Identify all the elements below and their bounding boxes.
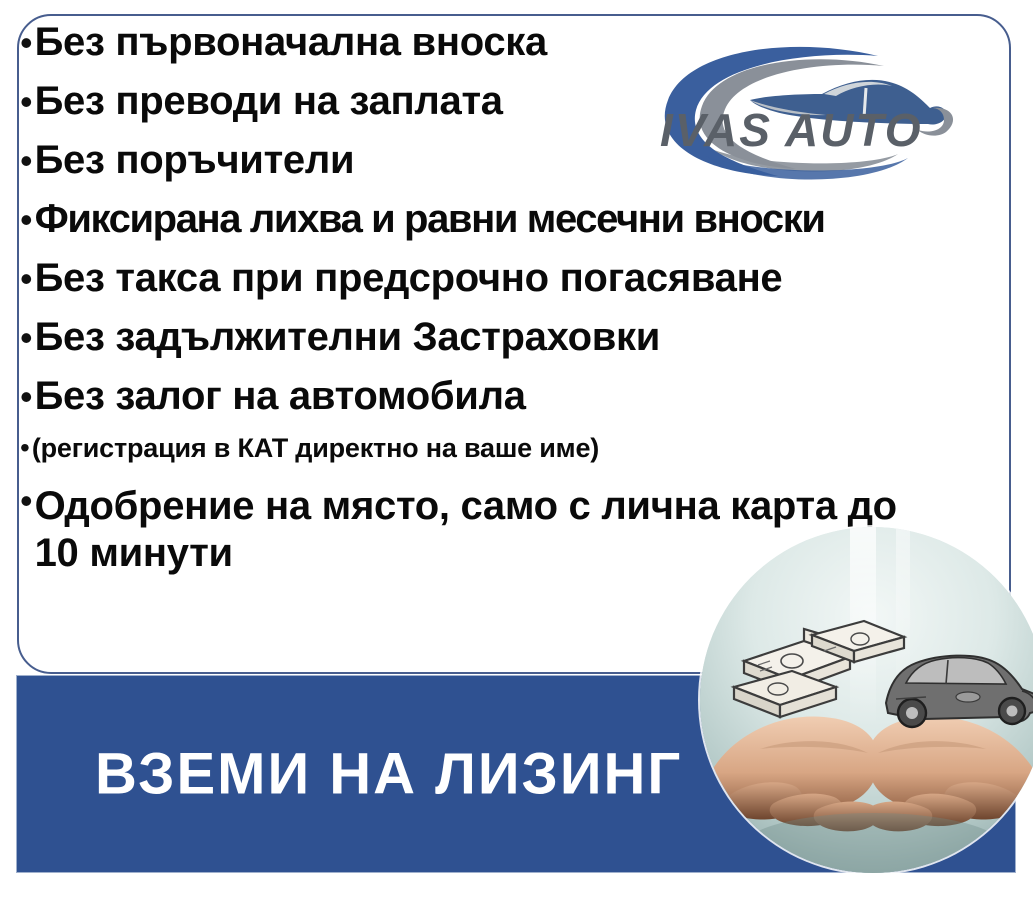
bullet-dot-icon: • bbox=[20, 25, 33, 61]
list-item-label: Фиксирана лихва и равни месечни вноски bbox=[35, 197, 825, 242]
list-item-note: • (регистрация в КАТ директно на ваше им… bbox=[20, 433, 980, 483]
list-item: • Без задължителни Застраховки bbox=[20, 315, 980, 374]
list-item-note-label: (регистрация в КАТ директно на ваше име) bbox=[32, 433, 599, 464]
list-item-label: Без преводи на заплата bbox=[35, 79, 503, 124]
hands-money-car-photo bbox=[700, 527, 1033, 873]
list-item-label: Без първоначална вноска bbox=[35, 20, 547, 65]
list-item: • Без залог на автомобила bbox=[20, 374, 980, 433]
list-item-label: Без такса при предсрочно погасяване bbox=[35, 256, 783, 301]
list-item-label: Без задължителни Застраховки bbox=[35, 315, 660, 360]
logo-wordmark: IVAS AUTO bbox=[660, 104, 923, 156]
list-item-label: Без залог на автомобила bbox=[35, 374, 526, 419]
bullet-dot-icon: • bbox=[20, 483, 33, 519]
bullet-dot-icon: • bbox=[20, 379, 33, 415]
leasing-advert-poster: • Без първоначална вноска • Без преводи … bbox=[0, 0, 1033, 902]
list-item-label: Без поръчители bbox=[35, 138, 355, 183]
cta-banner-headline: ВЗЕМИ НА ЛИЗИНГ bbox=[95, 741, 682, 808]
bullet-dot-icon: • bbox=[20, 143, 33, 179]
bullet-dot-icon: • bbox=[20, 320, 33, 356]
bullet-dot-icon: • bbox=[20, 434, 30, 462]
ivas-auto-logo: IVAS AUTO bbox=[646, 42, 972, 182]
list-item: • Фиксирана лихва и равни месечни вноски bbox=[20, 197, 980, 256]
list-item: • Без такса при предсрочно погасяване bbox=[20, 256, 980, 315]
bullet-dot-icon: • bbox=[20, 261, 33, 297]
bullet-dot-icon: • bbox=[20, 202, 33, 238]
bullet-dot-icon: • bbox=[20, 84, 33, 120]
